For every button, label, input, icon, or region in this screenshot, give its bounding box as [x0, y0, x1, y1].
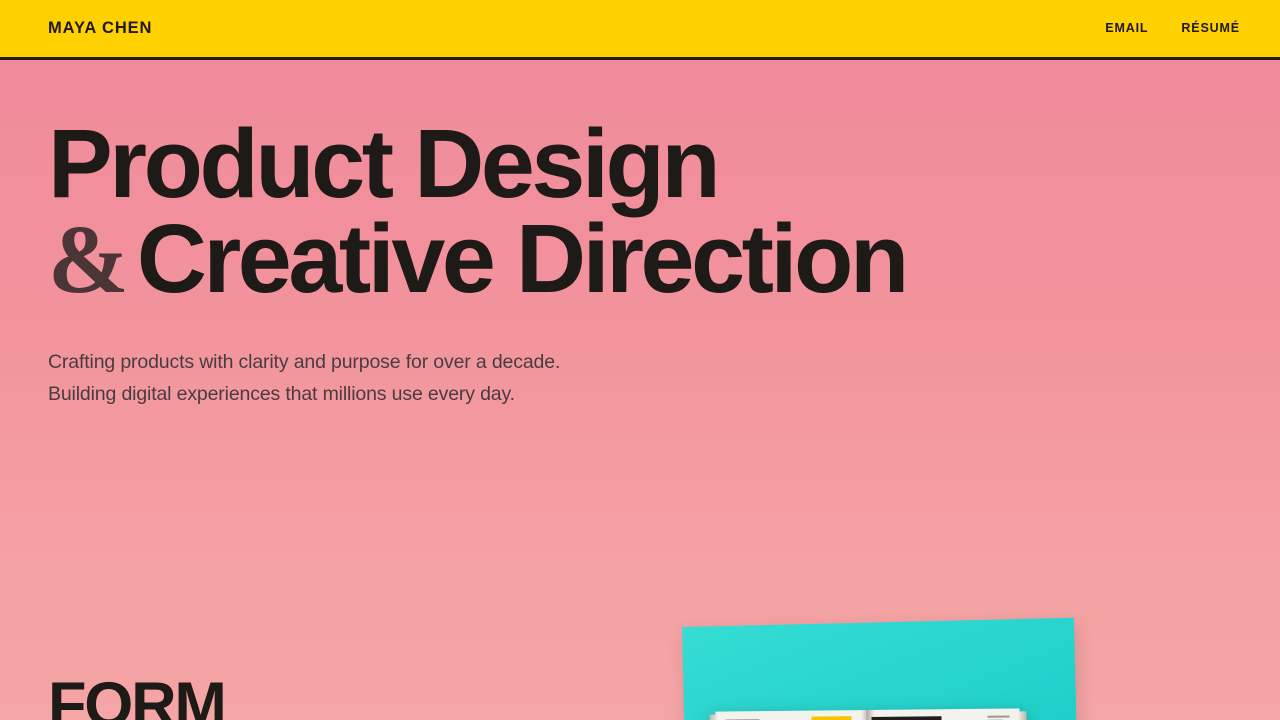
headline-line-1: Product Design	[48, 116, 1232, 211]
primary-nav: EMAIL RÉSUMÉ	[1105, 22, 1240, 35]
magazine-spine	[861, 710, 875, 720]
ampersand-glyph: &	[48, 206, 137, 313]
nav-link-resume[interactable]: RÉSUMÉ	[1181, 22, 1240, 35]
left-page-yellow-sidebar	[811, 716, 852, 720]
hero-subtitle: Crafting products with clarity and purpo…	[48, 347, 1232, 411]
page-title: Product Design &Creative Direction	[48, 116, 1232, 307]
page-body: Product Design &Creative Direction Craft…	[0, 60, 1280, 720]
hero-subtitle-line-2: Building digital experiences that millio…	[48, 379, 1232, 411]
hero-section: Product Design &Creative Direction Craft…	[0, 60, 1280, 411]
magazine-right-page	[867, 708, 1020, 720]
magazine-left-page: The ZINE	[715, 710, 868, 720]
headline-line-2-text: Creative Direction	[137, 204, 906, 313]
brand-logo[interactable]: MAYA CHEN	[48, 20, 152, 37]
teal-backdrop-card	[682, 618, 1079, 720]
open-magazine: The ZINE	[715, 708, 1021, 720]
headline-line-2: &Creative Direction	[48, 211, 1232, 307]
hero-subtitle-line-1: Crafting products with clarity and purpo…	[48, 347, 1232, 379]
right-page-folio-lines	[987, 715, 1013, 720]
page-edge-left	[709, 715, 718, 720]
section-heading-form: FORM	[48, 674, 225, 720]
magazine-photo: Open magazine spread on a teal card The …	[660, 555, 1100, 720]
right-page-black-panel	[871, 716, 942, 720]
page-edge-right	[1018, 711, 1027, 720]
site-header: MAYA CHEN EMAIL RÉSUMÉ	[0, 0, 1280, 60]
nav-link-email[interactable]: EMAIL	[1105, 22, 1148, 35]
magazine-photo-alt: Open magazine spread on a teal card	[660, 555, 661, 556]
